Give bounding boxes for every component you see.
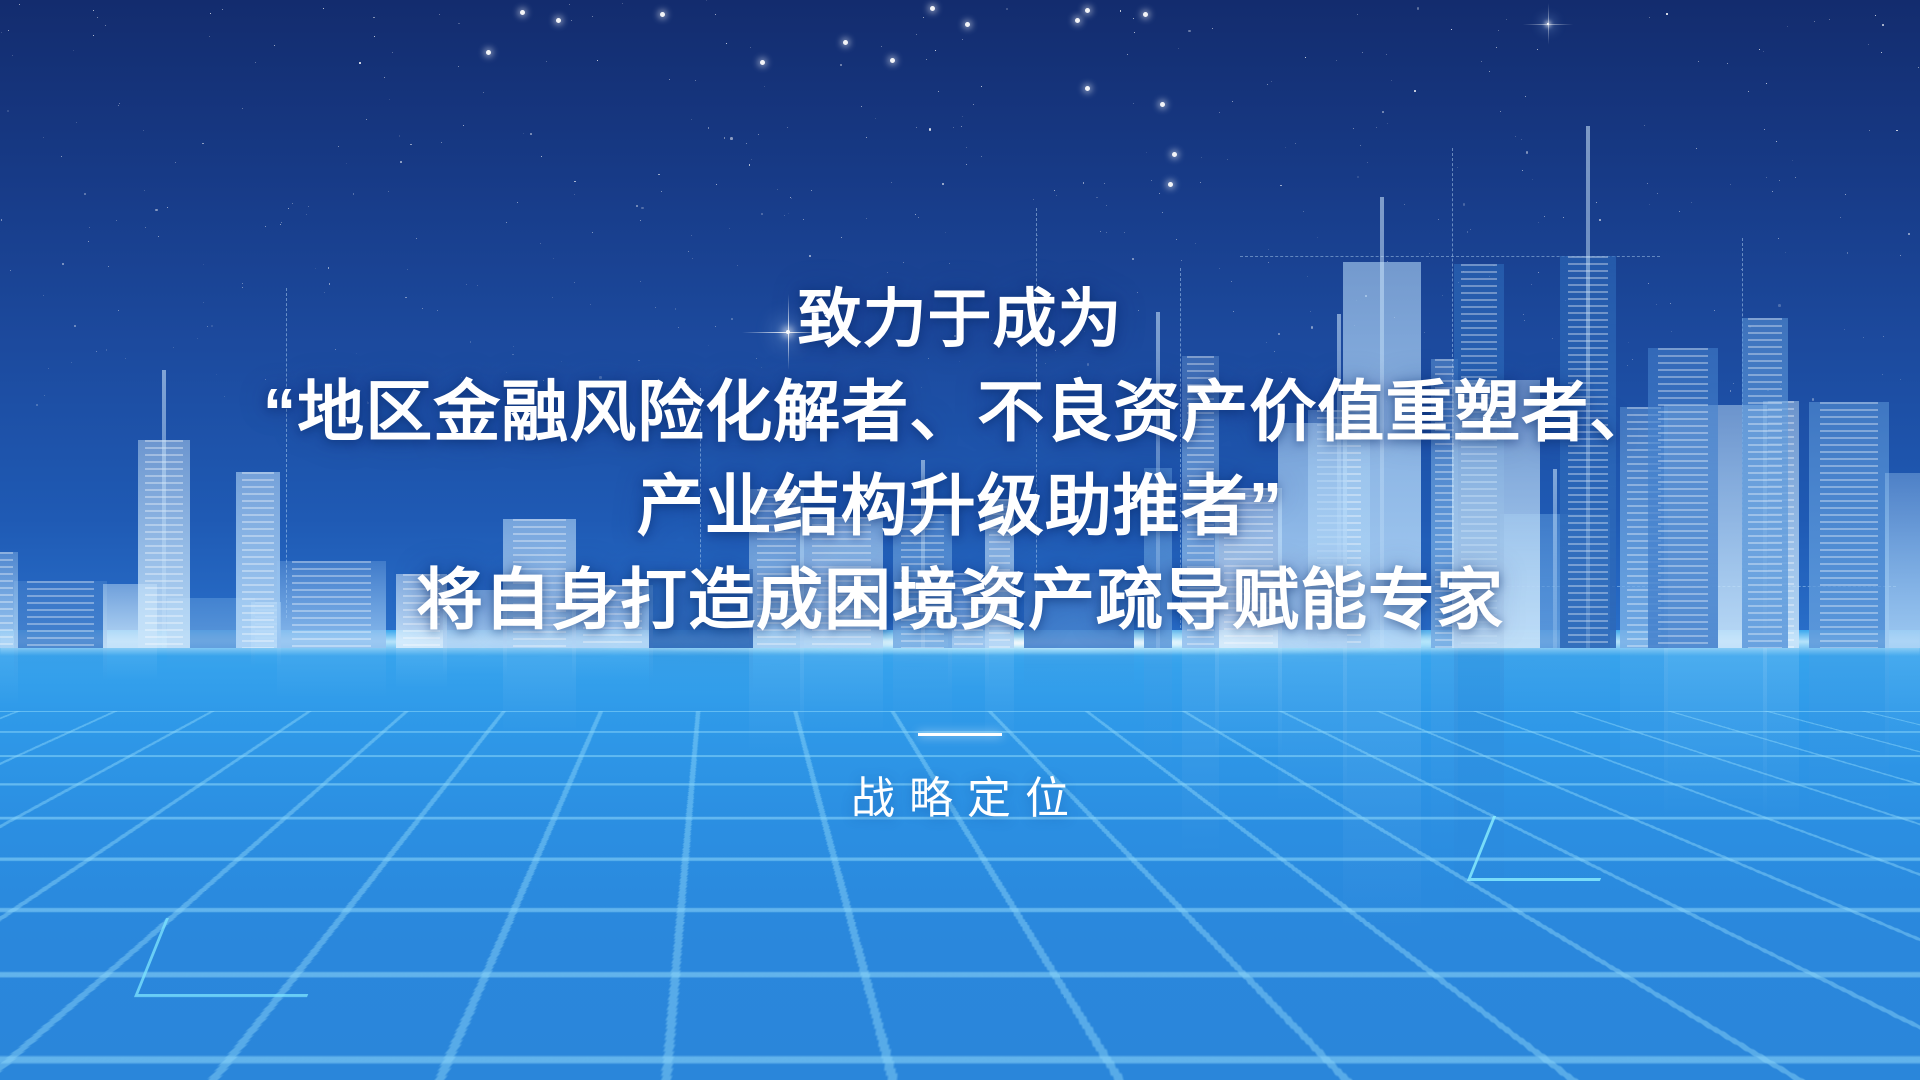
- slide-content: 致力于成为 “地区金融风险化解者、不良资产价值重塑者、 产业结构升级助推者” 将…: [0, 0, 1920, 1080]
- slide-canvas: 致力于成为 “地区金融风险化解者、不良资产价值重塑者、 产业结构升级助推者” 将…: [0, 0, 1920, 1080]
- headline-line-1: 致力于成为: [0, 272, 1920, 366]
- subtitle-label: 战略定位: [0, 762, 1920, 826]
- headline-line-2: “地区金融风险化解者、不良资产价值重塑者、: [0, 366, 1920, 460]
- headline-line-4: 将自身打造成困境资产疏导赋能专家: [0, 554, 1920, 648]
- title-divider: [918, 733, 1002, 736]
- headline-line-3: 产业结构升级助推者”: [0, 460, 1920, 554]
- headline-block: 致力于成为 “地区金融风险化解者、不良资产价值重塑者、 产业结构升级助推者” 将…: [0, 272, 1920, 648]
